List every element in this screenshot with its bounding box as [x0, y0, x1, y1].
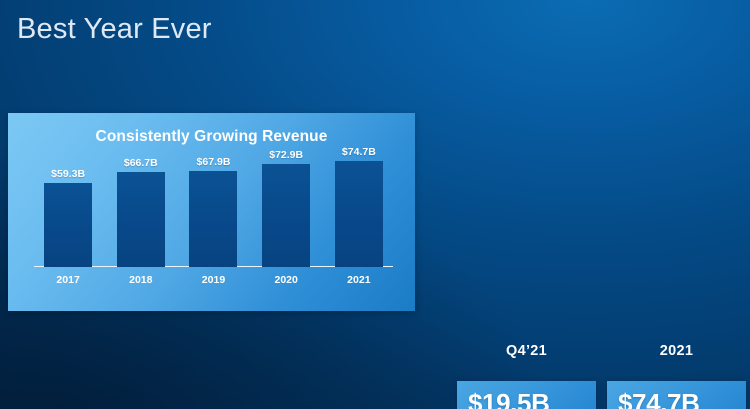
chart-bars: $59.3B $66.7B $67.9B $72.9B $74.7B: [34, 142, 393, 267]
metric-card-revenue-fy: $74.7B Revenue $1.2B above Oct guidance …: [607, 381, 746, 409]
bar-rect: [189, 171, 237, 267]
bar-group: $59.3B: [34, 142, 102, 267]
page-title: Best Year Ever: [17, 13, 750, 46]
x-tick-label: 2018: [107, 274, 175, 286]
bar-group: $74.7B: [325, 142, 393, 267]
bar-group: $72.9B: [252, 142, 320, 267]
bar-group: $67.9B: [179, 142, 247, 267]
revenue-chart-panel: Consistently Growing Revenue $59.3B $66.…: [8, 113, 415, 311]
bar-rect: [44, 183, 92, 267]
bar-group: $66.7B: [107, 142, 175, 267]
bar-rect: [262, 164, 310, 267]
bar-rect: [117, 172, 165, 267]
x-tick-label: 2020: [252, 274, 320, 286]
bar-data-label: $67.9B: [197, 156, 231, 168]
x-tick-label: 2017: [34, 274, 102, 286]
bar-data-label: $66.7B: [124, 157, 158, 169]
bar-data-label: $74.7B: [342, 146, 376, 158]
slide-canvas: Best Year Ever Consistently Growing Reve…: [0, 0, 750, 409]
column-heading-fy: 2021: [607, 343, 746, 359]
metric-value: $19.5B: [468, 390, 596, 409]
metrics-grid: Q4’21 2021 $19.5B Revenue $1.2B above Oc…: [457, 335, 743, 409]
x-tick-label: 2019: [179, 274, 247, 286]
column-heading-q4: Q4’21: [457, 343, 596, 359]
bar-data-label: $72.9B: [269, 149, 303, 161]
metric-value: $74.7B: [618, 390, 746, 409]
bar-data-label: $59.3B: [51, 168, 85, 180]
x-tick-label: 2021: [325, 274, 393, 286]
metric-card-revenue-q4: $19.5B Revenue $1.2B above Oct guidance …: [457, 381, 596, 409]
chart-plot-area: $59.3B $66.7B $67.9B $72.9B $74.7B: [34, 157, 393, 301]
bar-rect: [335, 161, 383, 267]
chart-x-tick-labels: 2017 2018 2019 2020 2021: [34, 269, 393, 291]
